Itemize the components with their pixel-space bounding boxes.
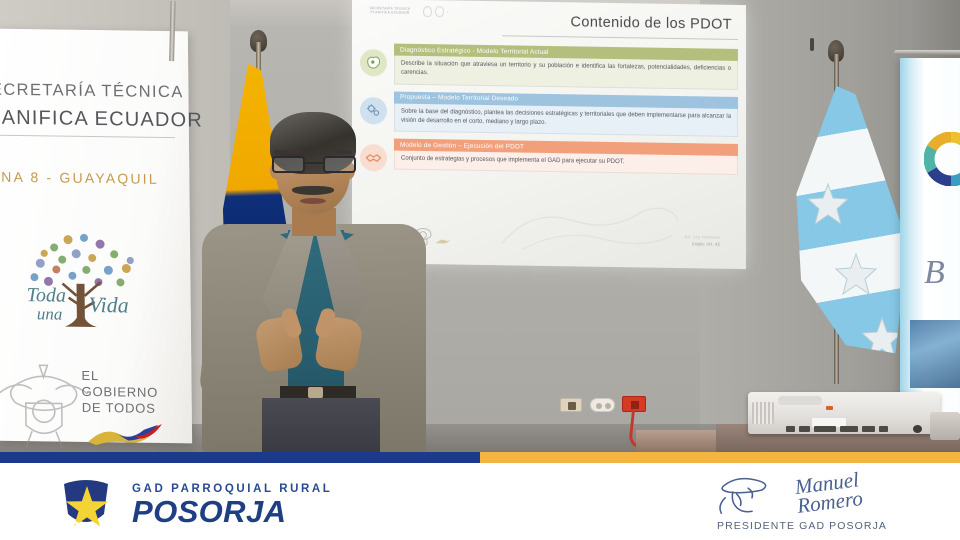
projector: [748, 392, 940, 434]
conference-room-photo: SECRETARÍA TÉCNICA PLANIFICA ECUADOR ZON…: [0, 0, 960, 452]
circular-ring-logo-icon: [924, 132, 960, 186]
toda-una-vida-tree-icon: Toda una Vida: [10, 225, 151, 339]
data-jack-plate[interactable]: [560, 398, 582, 412]
brand-identity-left: GAD PARROQUIAL RURAL POSORJA: [56, 474, 332, 536]
eyebrow-right: [324, 150, 352, 154]
president-signature: Manuel Romero: [794, 470, 864, 516]
slide-block-diagnostico: Diagnóstico Estratégico - Modelo Territo…: [394, 44, 738, 90]
accent-bar-navy: [0, 452, 480, 463]
banner-pole: [169, 1, 175, 61]
brand-bar: GAD PARROQUIAL RURAL POSORJA Manuel: [0, 452, 960, 540]
presenter-person: [196, 112, 432, 452]
projector-vent: [752, 402, 774, 424]
slide-block-propuesta: Propuesta – Modelo Territorial Deseado S…: [394, 91, 738, 137]
ecuador-coat-of-arms-icon: [0, 359, 92, 452]
slide-footer-swoosh: [436, 237, 452, 244]
projector-lens-cover: [778, 396, 822, 405]
flag-cloth: [794, 86, 912, 356]
ecuador-tricolor-swoosh-icon: [86, 422, 164, 447]
seal-icon-2: [435, 6, 444, 17]
slide-header-logos: SECRETARÍA TÉCNICA PLANIFICA ECUADOR ●: [360, 1, 480, 21]
ceiling-sensor: [810, 38, 814, 51]
flag-stars: [794, 86, 912, 356]
posorja-shield-logo-icon: [56, 474, 118, 536]
banner-monogram: B: [924, 254, 945, 292]
side-table: [636, 430, 720, 452]
territory-map-icon: [360, 49, 387, 76]
banner-line2: PLANIFICA ECUADOR: [0, 106, 203, 132]
wall-outlet-white[interactable]: [590, 398, 615, 412]
table-object: [930, 412, 960, 440]
signature-block: Manuel Romero: [704, 472, 900, 516]
banner-rod: [894, 50, 960, 55]
brand-title: POSORJA: [132, 496, 332, 527]
brand-wordmark: GAD PARROQUIAL RURAL POSORJA: [132, 483, 332, 527]
president-role-label: PRESIDENTE GAD POSORJA: [717, 520, 887, 532]
slide-watermark-map: [492, 197, 682, 258]
projector-ports: [786, 425, 916, 433]
slide-title-rule: [502, 35, 738, 40]
screenshot-root: SECRETARÍA TÉCNICA PLANIFICA ECUADOR ZON…: [0, 0, 960, 540]
brand-identity-right: Manuel Romero PRESIDENTE GAD POSORJA: [702, 472, 902, 532]
block-body: Conjunto de estrategias y procesos que i…: [394, 151, 738, 176]
eyebrow-left: [274, 150, 302, 154]
banner-line1: SECRETARÍA TÉCNICA: [0, 80, 184, 102]
banner-photo: [910, 320, 960, 388]
slide-header-org: SECRETARÍA TÉCNICA PLANIFICA ECUADOR: [360, 6, 420, 15]
eyeglasses-icon: [270, 156, 358, 173]
toda-label: Toda: [27, 284, 67, 307]
seal-icon-1: [423, 6, 432, 17]
slide-citation-faint: Art. Ley Territorial: [685, 234, 720, 240]
president-portrait-line-icon: [704, 472, 800, 516]
banner-divider: [0, 134, 175, 138]
slide-citation: Copia: Art. 42: [692, 241, 720, 246]
rollup-banner-planifica-ecuador: SECRETARÍA TÉCNICA PLANIFICA ECUADOR ZON…: [0, 29, 192, 444]
seal-label: ●: [447, 10, 449, 13]
slide-title: Contenido de los PDOT: [570, 14, 732, 33]
trousers: [262, 398, 380, 452]
block-body: Describe la situación que atraviesa un t…: [394, 56, 738, 90]
projector-focus-knob[interactable]: [913, 425, 922, 433]
vida-label: Vida: [89, 292, 129, 318]
projector-indicator: [826, 406, 833, 410]
gobierno-de-todos-label: EL GOBIERNO DE TODOS: [81, 368, 158, 417]
slide-blocks: Diagnóstico Estratégico - Modelo Territo…: [394, 44, 738, 183]
banner-zone: ZONA 8 - GUAYAQUIL: [0, 168, 159, 187]
slide-block-modelo-gestion: Modelo de Gestión – Ejecución del PDOT C…: [394, 139, 738, 176]
block-body: Sobre la base del diagnóstico, plantea l…: [394, 103, 738, 137]
una-label: una: [37, 304, 63, 323]
belt-buckle: [308, 387, 323, 398]
mouth: [300, 198, 326, 204]
accent-bar-gold: [480, 452, 960, 463]
mustache: [292, 186, 334, 195]
